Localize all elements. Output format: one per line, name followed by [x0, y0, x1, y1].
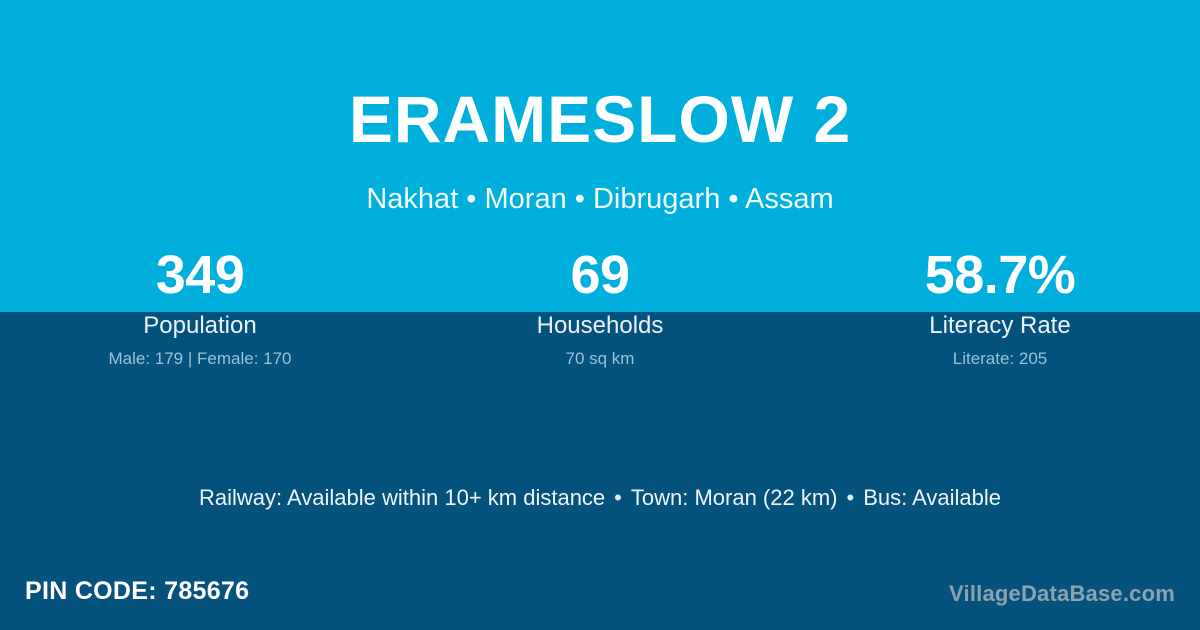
- stat-population: 349 Population Male: 179 | Female: 170: [0, 245, 400, 370]
- stat-sublabel: Literate: 205: [800, 349, 1200, 369]
- stats-row: 349 Population Male: 179 | Female: 170 6…: [0, 245, 1200, 370]
- brand-watermark: VillageDataBase.com: [949, 580, 1175, 609]
- location-breadcrumb: Nakhat • Moran • Dibrugarh • Assam: [0, 182, 1200, 217]
- facility-bus: Bus: Available: [863, 485, 1001, 510]
- village-info-card: ERAMESLOW 2 Nakhat • Moran • Dibrugarh •…: [0, 0, 1200, 630]
- pin-code: PIN CODE: 785676: [25, 575, 249, 608]
- stat-value: 58.7%: [800, 245, 1200, 307]
- facility-separator: •: [838, 485, 864, 510]
- stat-value: 69: [400, 245, 800, 307]
- stat-households: 69 Households 70 sq km: [400, 245, 800, 370]
- stat-label: Households: [400, 312, 800, 341]
- page-title: ERAMESLOW 2: [0, 86, 1200, 152]
- stat-literacy-rate: 58.7% Literacy Rate Literate: 205: [800, 245, 1200, 370]
- facilities-line: Railway: Available within 10+ km distanc…: [0, 484, 1200, 513]
- stat-sublabel: Male: 179 | Female: 170: [0, 349, 400, 369]
- facility-town: Town: Moran (22 km): [631, 485, 838, 510]
- stat-label: Literacy Rate: [800, 312, 1200, 341]
- stat-sublabel: 70 sq km: [400, 349, 800, 369]
- facility-separator: •: [605, 485, 631, 510]
- facility-railway: Railway: Available within 10+ km distanc…: [199, 485, 605, 510]
- stat-label: Population: [0, 312, 400, 341]
- stat-value: 349: [0, 245, 400, 307]
